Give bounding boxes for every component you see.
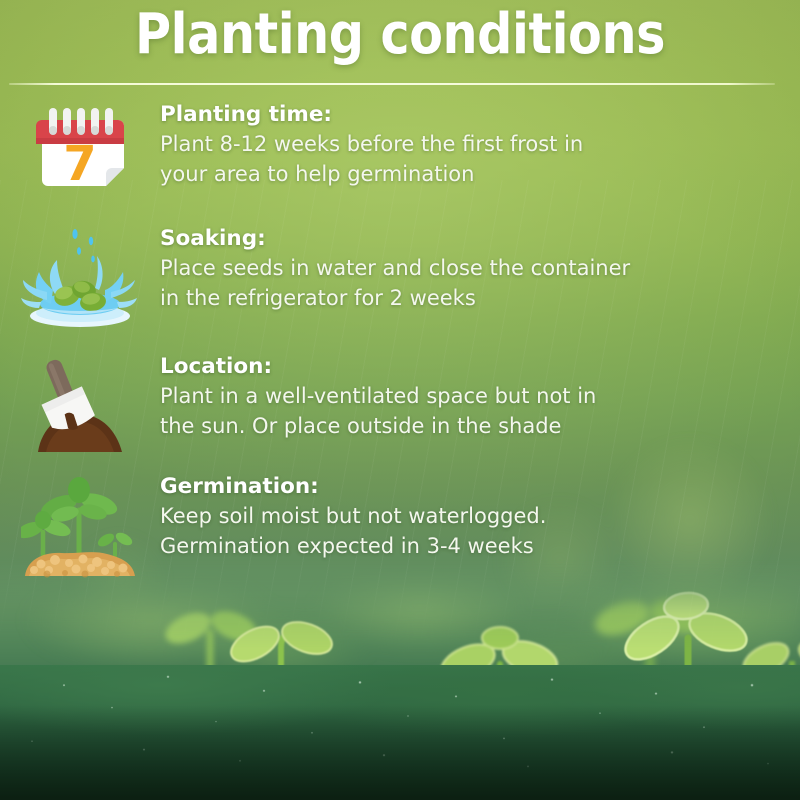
section-body-line-2: Germination expected in 3-4 weeks <box>160 531 786 561</box>
section-heading: Location: <box>160 352 786 381</box>
title-divider <box>9 83 775 85</box>
section-body-line-2: your area to help germination <box>160 159 786 189</box>
calendar-icon: 7 <box>32 104 128 196</box>
section-planting-time: 7 Planting time: Plant 8-12 weeks before… <box>0 100 800 196</box>
footer-photo-shadow <box>0 705 800 800</box>
seedlings-in-soil-icon <box>21 476 139 582</box>
page-title: Planting conditions <box>48 4 752 66</box>
section-icon-slot <box>0 352 160 458</box>
section-body-line-1: Plant 8-12 weeks before the first frost … <box>160 129 786 159</box>
planting-conditions-infographic: Planting conditions <box>0 0 800 800</box>
calendar-day-number: 7 <box>63 136 96 192</box>
section-heading: Planting time: <box>160 100 786 129</box>
section-icon-slot <box>0 224 160 332</box>
footer-photo-fade <box>0 560 800 800</box>
section-text: Soaking: Place seeds in water and close … <box>160 224 800 313</box>
section-icon-slot <box>0 472 160 582</box>
footer-photo <box>0 560 800 800</box>
section-body-line-2: the sun. Or place outside in the shade <box>160 411 786 441</box>
section-body-line-1: Keep soil moist but not waterlogged. <box>160 501 786 531</box>
section-text: Planting time: Plant 8-12 weeks before t… <box>160 100 800 189</box>
section-text: Germination: Keep soil moist but not wat… <box>160 472 800 561</box>
section-heading: Germination: <box>160 472 786 501</box>
section-body-line-1: Place seeds in water and close the conta… <box>160 253 786 283</box>
section-icon-slot: 7 <box>0 100 160 196</box>
water-splash-seeds-icon <box>21 228 139 332</box>
section-germination: Germination: Keep soil moist but not wat… <box>0 472 800 582</box>
section-text: Location: Plant in a well-ventilated spa… <box>160 352 800 441</box>
section-soaking: Soaking: Place seeds in water and close … <box>0 224 800 332</box>
section-body-line-2: in the refrigerator for 2 weeks <box>160 283 786 313</box>
section-heading: Soaking: <box>160 224 786 253</box>
section-body-line-1: Plant in a well-ventilated space but not… <box>160 381 786 411</box>
section-location: Location: Plant in a well-ventilated spa… <box>0 352 800 458</box>
trowel-in-soil-icon <box>24 356 136 458</box>
